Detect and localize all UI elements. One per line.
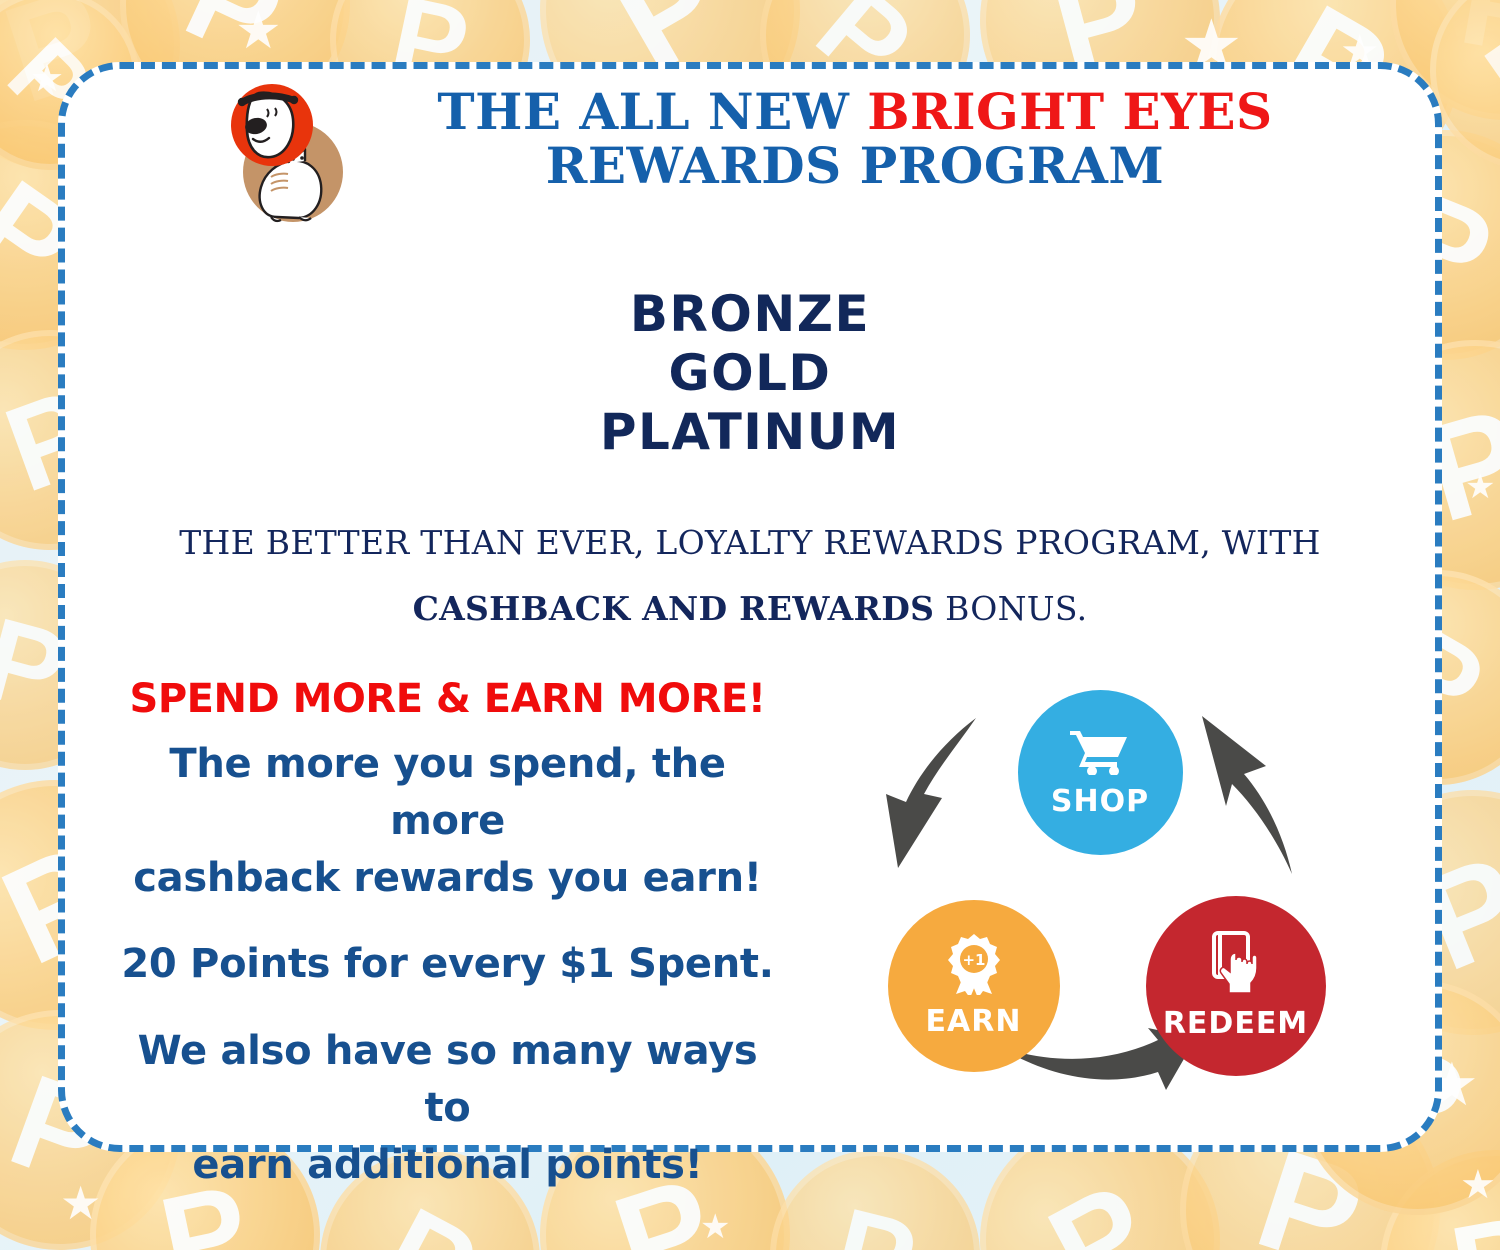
card-header: THE ALL NEW BRIGHT EYES REWARDS PROGRAM <box>65 69 1435 259</box>
logo-svg <box>215 77 355 227</box>
arrow-shop-to-earn <box>880 710 1020 880</box>
promo-card: THE ALL NEW BRIGHT EYES REWARDS PROGRAM … <box>58 62 1442 1152</box>
star-icon: ★ <box>700 1210 730 1244</box>
subtitle-tail: BONUS. <box>934 589 1087 628</box>
subtitle-block: THE BETTER THAN EVER, LOYALTY REWARDS PR… <box>65 510 1435 642</box>
lower-section: SPEND MORE & EARN MORE! The more you spe… <box>65 676 1435 1194</box>
pitch-body-3-line-2: earn additional points! <box>115 1137 780 1194</box>
arrow-redeem-to-shop <box>1188 710 1328 880</box>
award-ribbon-plus-one-icon: +1 <box>941 933 1007 1000</box>
star-icon: ★ <box>1465 470 1495 504</box>
bright-eyes-logo <box>215 77 355 227</box>
cycle-label-earn: EARN <box>926 1004 1022 1039</box>
tier-gold: GOLD <box>65 344 1435 403</box>
cycle-label-redeem: REDEEM <box>1163 1006 1308 1041</box>
pitch-headline: SPEND MORE & EARN MORE! <box>115 676 780 722</box>
rewards-cycle-diagram: SHOP +1 EARN <box>888 688 1328 1108</box>
subtitle-emphasis: CASHBACK AND REWARDS <box>413 589 935 628</box>
tier-platinum: PLATINUM <box>65 403 1435 462</box>
pitch-column: SPEND MORE & EARN MORE! The more you spe… <box>65 676 780 1194</box>
tier-list: BRONZE GOLD PLATINUM <box>65 285 1435 462</box>
subtitle-line-2: CASHBACK AND REWARDS BONUS. <box>125 576 1375 642</box>
title-line-2: REWARDS PROGRAM <box>355 139 1355 193</box>
title-part-blue: THE ALL NEW <box>437 82 867 141</box>
pitch-body-2: 20 Points for every $1 Spent. <box>115 936 780 993</box>
cycle-column: SHOP +1 EARN <box>780 676 1435 1194</box>
star-icon: ★ <box>235 5 282 57</box>
cycle-node-redeem[interactable]: REDEEM <box>1146 896 1326 1076</box>
subtitle-line-1: THE BETTER THAN EVER, LOYALTY REWARDS PR… <box>125 510 1375 576</box>
pitch-body-1-line-2: cashback rewards you earn! <box>115 850 780 907</box>
pitch-body-3-line-1: We also have so many ways to <box>115 1023 780 1137</box>
shopping-cart-icon <box>1068 727 1132 780</box>
title-part-red: BRIGHT EYES <box>867 82 1272 141</box>
tier-bronze: BRONZE <box>65 285 1435 344</box>
cycle-node-shop[interactable]: SHOP <box>1018 690 1183 855</box>
star-icon: ★ <box>1460 1165 1496 1205</box>
title-block: THE ALL NEW BRIGHT EYES REWARDS PROGRAM <box>355 85 1355 193</box>
pitch-body-1-line-1: The more you spend, the more <box>115 736 780 850</box>
card-with-hand-icon <box>1206 931 1266 1002</box>
svg-text:+1: +1 <box>962 951 985 969</box>
star-icon: ★ <box>30 60 64 98</box>
cycle-label-shop: SHOP <box>1051 784 1149 819</box>
cycle-node-earn[interactable]: +1 EARN <box>888 900 1060 1072</box>
title-line-1: THE ALL NEW BRIGHT EYES <box>355 85 1355 139</box>
